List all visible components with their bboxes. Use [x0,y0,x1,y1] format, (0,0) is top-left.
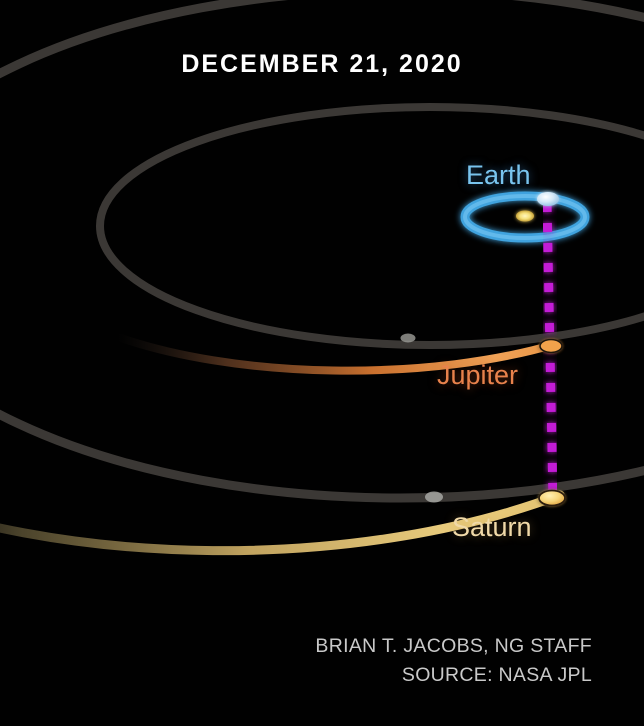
orbit-canvas [0,0,644,726]
saturn-marker-dot [425,492,443,503]
credit-source: SOURCE: NASA JPL [315,661,592,690]
jupiter-planet-dot [540,340,562,353]
sun-marker [516,211,534,222]
earth-label: Earth [466,160,531,191]
conjunction-diagram: DECEMBER 21, 2020 Earth Jupiter Saturn B… [0,0,644,726]
jupiter-label: Jupiter [437,360,518,391]
saturn-planet-dot [539,491,565,506]
saturn-label: Saturn [452,512,532,543]
jupiter-orbit-ring [100,107,644,345]
earth-planet-dot [537,192,559,206]
page-title: DECEMBER 21, 2020 [0,50,644,79]
credit-author: BRIAN T. JACOBS, NG STAFF [315,632,592,661]
jupiter-marker-dot [401,334,416,343]
credit-block: BRIAN T. JACOBS, NG STAFF SOURCE: NASA J… [315,632,592,690]
